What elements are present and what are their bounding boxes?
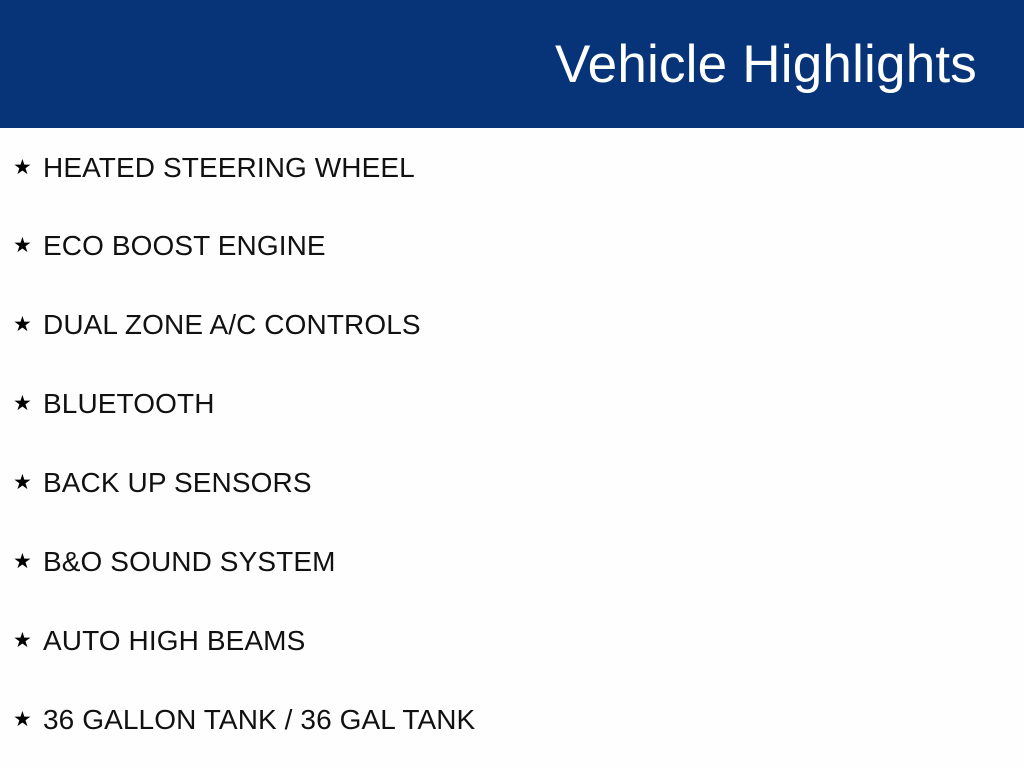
highlight-label: HEATED STEERING WHEEL <box>43 153 415 184</box>
highlight-label: DUAL ZONE A/C CONTROLS <box>43 310 421 341</box>
list-item: ★ 36 GALLON TANK / 36 GAL TANK <box>0 681 1024 760</box>
highlight-label: BLUETOOTH <box>43 389 215 420</box>
highlight-label: 36 GALLON TANK / 36 GAL TANK <box>43 705 475 736</box>
highlight-label: ECO BOOST ENGINE <box>43 231 326 262</box>
highlight-label: BACK UP SENSORS <box>43 468 312 499</box>
star-bullet-icon: ★ <box>13 472 43 493</box>
star-bullet-icon: ★ <box>13 551 43 572</box>
list-item: ★ ECO BOOST ENGINE <box>0 207 1024 286</box>
list-item: ★ DUAL ZONE A/C CONTROLS <box>0 286 1024 365</box>
vehicle-highlights-slide: Vehicle Highlights ★ HEATED STEERING WHE… <box>0 0 1024 768</box>
list-item: ★ BLUETOOTH <box>0 365 1024 444</box>
list-item: ★ AUTO HIGH BEAMS <box>0 602 1024 681</box>
star-bullet-icon: ★ <box>13 157 43 178</box>
star-bullet-icon: ★ <box>13 709 43 730</box>
star-bullet-icon: ★ <box>13 235 43 256</box>
list-item: ★ HEATED STEERING WHEEL <box>0 128 1024 207</box>
vehicle-highlights-list: ★ HEATED STEERING WHEEL ★ ECO BOOST ENGI… <box>0 128 1024 768</box>
star-bullet-icon: ★ <box>13 314 43 335</box>
star-bullet-icon: ★ <box>13 630 43 651</box>
highlight-label: AUTO HIGH BEAMS <box>43 626 305 657</box>
page-title: Vehicle Highlights <box>555 37 977 93</box>
list-item: ★ B&O SOUND SYSTEM <box>0 523 1024 602</box>
list-item: ★ BACK UP SENSORS <box>0 444 1024 523</box>
header-banner: Vehicle Highlights <box>0 0 1024 128</box>
highlight-label: B&O SOUND SYSTEM <box>43 547 336 578</box>
star-bullet-icon: ★ <box>13 393 43 414</box>
